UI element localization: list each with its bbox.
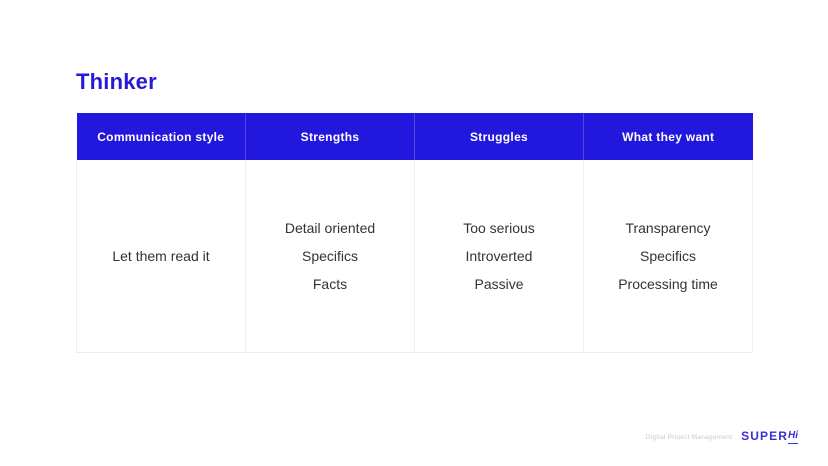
cell-what-they-want: Transparency Specifics Processing time: [584, 160, 753, 352]
cell-communication-style: Let them read it: [77, 160, 246, 352]
column-header-strengths: Strengths: [246, 113, 415, 160]
footer-tagline: Digital Project Management: [646, 434, 732, 441]
cell-line: Too serious: [463, 214, 535, 242]
slide-canvas: Thinker Communication style Strengths St…: [0, 0, 828, 466]
page-title: Thinker: [76, 68, 157, 96]
column-header-what-they-want: What they want: [584, 113, 753, 160]
column-header-struggles: Struggles: [415, 113, 584, 160]
brand-logo-mark: Hi: [788, 430, 798, 444]
column-header-communication-style: Communication style: [77, 113, 246, 160]
cell-line: Transparency: [625, 214, 710, 242]
cell-line: Let them read it: [112, 242, 209, 270]
slide-footer: Digital Project Management SUPER Hi: [646, 430, 798, 444]
cell-line: Specifics: [302, 242, 358, 270]
cell-line: Specifics: [640, 242, 696, 270]
brand-logo-wordmark: SUPER: [741, 430, 788, 443]
brand-logo: SUPER Hi: [741, 430, 798, 444]
cell-line: Introverted: [466, 242, 533, 270]
cell-line: Processing time: [618, 270, 718, 298]
cell-lines: Transparency Specifics Processing time: [590, 214, 746, 298]
cell-struggles: Too serious Introverted Passive: [415, 160, 584, 352]
table-row: Let them read it Detail oriented Specifi…: [77, 160, 753, 352]
cell-line: Passive: [474, 270, 523, 298]
cell-lines: Let them read it: [83, 242, 239, 270]
cell-line: Facts: [313, 270, 347, 298]
table-body: Let them read it Detail oriented Specifi…: [77, 160, 753, 352]
communication-profile-table: Communication style Strengths Struggles …: [76, 113, 753, 353]
table-header-row: Communication style Strengths Struggles …: [77, 113, 753, 160]
cell-line: Detail oriented: [285, 214, 375, 242]
cell-lines: Detail oriented Specifics Facts: [252, 214, 408, 298]
cell-lines: Too serious Introverted Passive: [421, 214, 577, 298]
cell-strengths: Detail oriented Specifics Facts: [246, 160, 415, 352]
table-header: Communication style Strengths Struggles …: [77, 113, 753, 160]
